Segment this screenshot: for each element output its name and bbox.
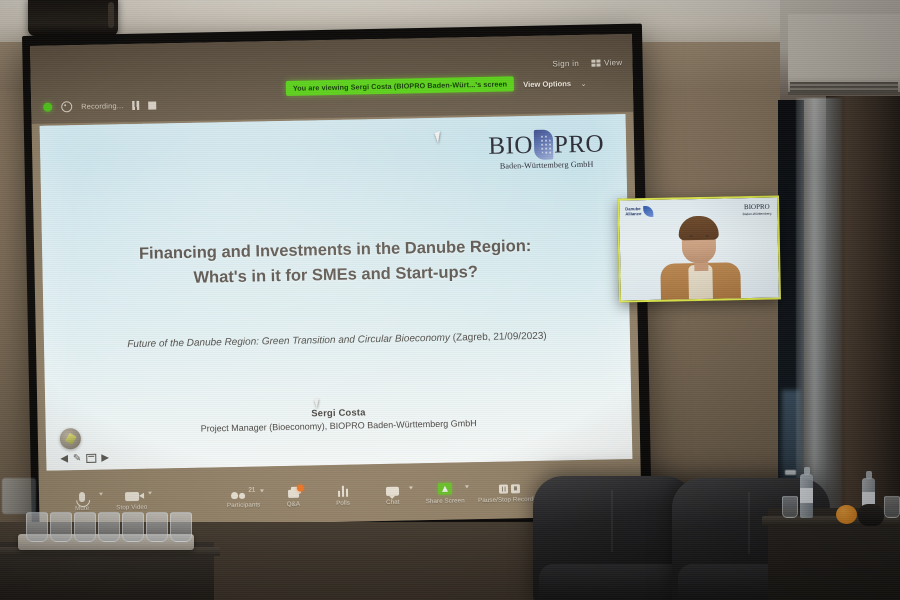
toolbar-button-participants[interactable]: 21 Participants — [218, 482, 268, 509]
tumbler-5 — [122, 512, 144, 542]
logo-word-bio: BIO — [488, 132, 533, 158]
drinking-glass-1 — [782, 496, 798, 518]
biopro-small-word: BIOPRO — [742, 204, 771, 212]
orange-fruit — [836, 505, 857, 524]
window-light-spot — [785, 470, 796, 475]
sign-in-button[interactable]: Sign in — [552, 59, 579, 69]
biopro-leaf-mark-icon — [534, 130, 554, 160]
biopro-small-sub: Baden-Württemberg — [743, 212, 772, 217]
next-slide-icon[interactable]: ▶ — [101, 452, 109, 463]
toolbar-button-polls[interactable]: Polls — [318, 480, 368, 507]
zoom-account-row: Sign in View — [552, 58, 622, 68]
recording-status-label: Recording... — [81, 101, 123, 111]
toolbar-label-mute: Mute — [75, 504, 89, 511]
qa-badge — [297, 484, 304, 491]
slide-subtitle-place-date: (Zagreb, 21/09/2023) — [450, 331, 547, 344]
water-bottle-1 — [800, 474, 813, 518]
poll-bars-icon — [337, 480, 348, 496]
tumbler-4 — [98, 512, 120, 542]
chevron-down-icon[interactable] — [409, 486, 413, 489]
danube-mark-icon — [643, 206, 653, 217]
toolbar-button-share-screen[interactable]: Share Screen — [417, 478, 473, 505]
logo-word-pro: PRO — [554, 131, 605, 157]
toolbar-label-qa: Q&A — [287, 500, 301, 507]
bottle-label — [800, 488, 813, 503]
biopro-logo: BIO PRO Baden-Württemberg GmbH — [488, 129, 604, 172]
pause-stop-recording-icon — [499, 477, 520, 493]
pause-recording-icon[interactable] — [132, 101, 139, 110]
chat-bubble-icon — [386, 479, 399, 495]
slide-subtitle-event: Future of the Danube Region: Green Trans… — [127, 333, 450, 350]
chair-crease — [748, 492, 750, 554]
left-bottles — [2, 478, 36, 514]
tumbler-1 — [26, 512, 48, 542]
grid-icon — [591, 59, 600, 67]
view-options-button[interactable]: View Options ⌄ — [523, 73, 587, 92]
toolbar-label-stop-video: Stop Video — [116, 503, 147, 511]
share-screen-icon — [438, 478, 452, 494]
record-circle-icon — [61, 101, 72, 112]
view-label: View — [604, 58, 623, 67]
toolbar-label-share-screen: Share Screen — [426, 497, 465, 505]
camera-icon — [124, 484, 138, 500]
microphone-icon — [79, 485, 85, 501]
armchair-left — [533, 476, 695, 600]
participant-count: 21 — [248, 487, 255, 494]
ac-vent — [790, 82, 898, 92]
speaker-eye-right — [706, 235, 709, 237]
qa-bubble-icon — [287, 481, 298, 497]
chevron-down-icon[interactable] — [260, 489, 264, 492]
tumbler-2 — [50, 512, 72, 542]
slide-presenter-block: Sergi Costa Project Manager (Bioeconomy)… — [45, 401, 631, 437]
toolbar-button-qa[interactable]: Q&A — [268, 481, 318, 508]
slide-menu-icon[interactable] — [86, 454, 96, 463]
slide-title: Financing and Investments in the Danube … — [42, 232, 629, 293]
danube-alliance-logo: Danube Alliance — [625, 206, 653, 218]
chevron-down-icon[interactable] — [464, 485, 468, 488]
ceiling-speaker — [28, 0, 118, 36]
speaker-video-thumbnail[interactable]: Danube Alliance BIOPRO Baden-Württemberg — [617, 195, 781, 302]
toolbar-button-chat[interactable]: Chat — [368, 479, 418, 506]
danube-logo-line2: Alliance — [625, 211, 641, 216]
powerpoint-presenter-controls[interactable]: ◀ ✎ ▶ — [60, 428, 110, 465]
tumbler-3 — [74, 512, 96, 542]
tumbler-7 — [170, 512, 192, 542]
chair-crease — [611, 490, 613, 552]
tumbler-6 — [146, 512, 168, 542]
previous-slide-icon[interactable]: ◀ — [60, 453, 68, 464]
toolbar-label-chat: Chat — [386, 498, 400, 505]
toolbar-spacer — [157, 496, 219, 497]
view-layout-button[interactable]: View — [591, 58, 623, 68]
slide-subtitle: Future of the Danube Region: Green Trans… — [44, 329, 630, 352]
logo-subtitle: Baden-Württemberg GmbH — [489, 160, 605, 171]
pen-tool-icon[interactable] — [60, 428, 81, 449]
projection-screen-surface: Sign in View You are viewing Sergi Costa… — [30, 34, 642, 528]
conference-room-scene: Sign in View You are viewing Sergi Costa… — [0, 0, 900, 600]
table-object — [858, 504, 884, 526]
chevron-down-icon: ⌄ — [581, 81, 587, 88]
biopro-logo-small: BIOPRO Baden-Württemberg — [742, 204, 771, 217]
chair-seat — [539, 564, 689, 600]
annotation-pen-icon[interactable]: ✎ — [73, 453, 82, 464]
stop-recording-icon[interactable] — [148, 101, 156, 109]
speaker-eye-left — [690, 235, 693, 237]
share-banner-text: You are viewing Sergi Costa (BIOPRO Bade… — [286, 76, 515, 96]
drinking-glass-2 — [884, 496, 900, 518]
chevron-down-icon[interactable] — [99, 492, 103, 495]
recording-dot-icon — [43, 103, 52, 112]
toolbar-button-stop-video[interactable]: Stop Video — [107, 484, 157, 511]
people-icon: 21 — [231, 482, 255, 498]
presentation-slide: BIO PRO Baden-Württemberg GmbH Financing… — [40, 114, 633, 471]
toolbar-button-mute[interactable]: Mute — [57, 485, 107, 512]
chevron-down-icon[interactable] — [148, 491, 152, 494]
toolbar-label-participants: Participants — [227, 501, 261, 509]
toolbar-label-polls: Polls — [336, 499, 350, 506]
recording-indicator: Recording... — [43, 99, 156, 112]
